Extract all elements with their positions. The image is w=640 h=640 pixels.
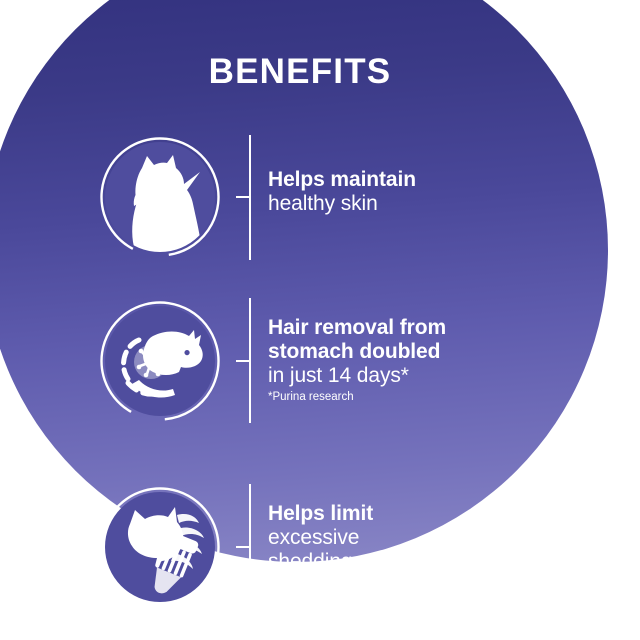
page-title: BENEFITS xyxy=(0,52,600,92)
benefit-1-subline: healthy skin xyxy=(268,192,568,216)
connector-line-horizontal-1 xyxy=(236,196,251,198)
benefit-3-headline: Helps limit xyxy=(268,502,568,526)
benefit-text-1: Helps maintain healthy skin xyxy=(268,168,568,216)
benefit-icon-1 xyxy=(95,132,225,262)
connector-line-horizontal-3 xyxy=(236,546,251,548)
benefit-3-subline-line1: excessive xyxy=(268,526,568,550)
benefit-2-footnote: *Purina research xyxy=(268,390,568,405)
connector-line-horizontal-2 xyxy=(236,360,251,362)
benefit-1-headline: Helps maintain xyxy=(268,168,568,192)
benefit-text-2: Hair removal from stomach doubled in jus… xyxy=(268,316,568,405)
benefit-2-headline-line1: Hair removal from xyxy=(268,316,568,340)
benefit-icon-3 xyxy=(95,482,225,612)
cat-grooming-comb-icon xyxy=(95,482,225,612)
cat-hairball-digestion-icon xyxy=(95,296,225,426)
benefit-3-subline-line2: shedding xyxy=(268,550,568,574)
benefit-2-subline: in just 14 days* xyxy=(268,364,568,388)
benefits-infographic: BENEFITS Helps maintain healthy skin xyxy=(0,0,640,640)
benefit-text-3: Helps limit excessive shedding xyxy=(268,502,568,574)
benefit-2-headline-line2: stomach doubled xyxy=(268,340,568,364)
benefit-icon-2 xyxy=(95,296,225,426)
cat-sitting-silhouette-icon xyxy=(95,132,225,262)
